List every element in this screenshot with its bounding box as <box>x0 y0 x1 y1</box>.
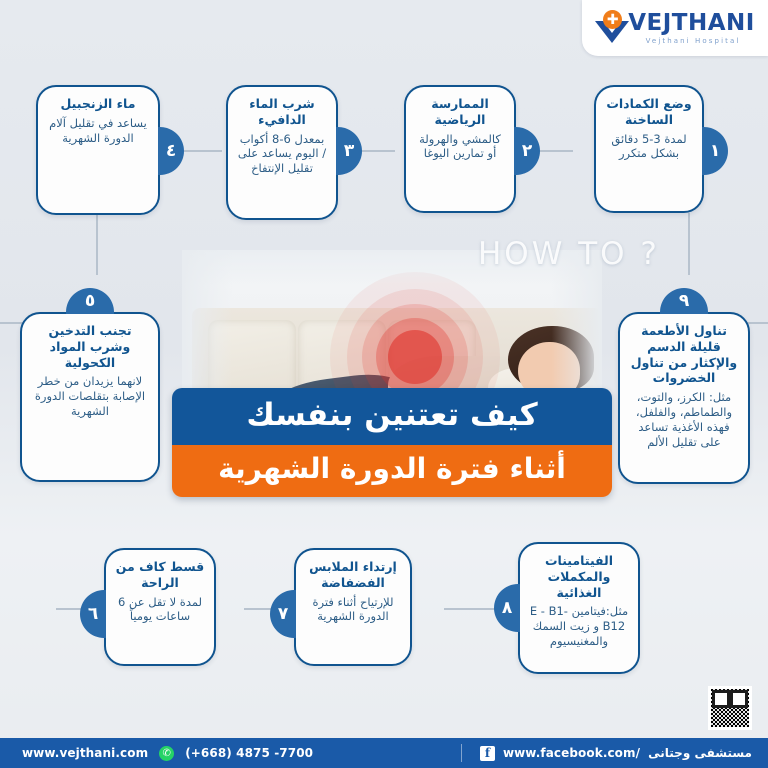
tip-title-3: شرب الماء الدافيء <box>236 96 328 128</box>
whatsapp-icon: ✆ <box>159 746 174 761</box>
tip-number-badge-3: ٣ <box>336 127 362 175</box>
brand-name: VEJTHANI <box>628 12 755 35</box>
tip-card-6[interactable]: ٦ قسط كاف من الراحة لمدة لا تقل عن 6 ساع… <box>104 548 216 666</box>
tip-body-3: بمعدل 6-8 أكواب / اليوم يساعد على تقليل … <box>236 132 328 177</box>
footer-bar: www.vejthani.com ✆ (+668) 4875 -7700 f w… <box>0 738 768 768</box>
brand-tagline: Vejthani Hospital <box>631 37 755 45</box>
tip-card-8[interactable]: ٨ الفيتامينات والمكملات الغذائية مثل:فيت… <box>518 542 640 674</box>
phone-number: (+668) 4875 -7700 <box>185 746 313 760</box>
tip-title-6: قسط كاف من الراحة <box>114 559 206 591</box>
tip-number-badge-4: ٤ <box>158 127 184 175</box>
tip-number-badge-9: ٩ <box>660 288 708 314</box>
tip-card-4[interactable]: ٤ ماء الزنجبيل يساعد في تقليل آلام الدور… <box>36 85 160 215</box>
facebook-arabic-handle: مستشفى وجتانى <box>648 746 752 760</box>
tip-body-1: لمدة 3-5 دقائق بشكل متكرر <box>604 132 694 162</box>
tip-number-badge-5: ٥ <box>66 288 114 314</box>
website-link[interactable]: www.vejthani.com <box>22 746 148 760</box>
facebook-icon: f <box>480 746 495 761</box>
brand-logo: ✚ VEJTHANI Vejthani Hospital <box>582 0 768 56</box>
headline-line-2: أثناء فترة الدورة الشهرية <box>172 445 612 496</box>
tip-number-badge-1: ١ <box>702 127 728 175</box>
vejthani-v-mark-icon: ✚ <box>595 11 629 45</box>
cross-glyph: ✚ <box>607 13 619 27</box>
headline-line-1: كيف تعتنين بنفسك <box>172 388 612 445</box>
tip-card-9[interactable]: ٩ تناول الأطعمة قليلة الدسم والإكثار من … <box>618 312 750 484</box>
footer-divider <box>461 744 462 762</box>
tip-body-2: كالمشي والهرولة أو تمارين اليوغا <box>414 132 506 162</box>
tip-title-8: الفيتامينات والمكملات الغذائية <box>528 553 630 600</box>
tip-body-9: مثل: الكرز، والتوت، والطماطم، والفلفل، ف… <box>628 390 740 450</box>
tip-number-badge-6: ٦ <box>80 590 106 638</box>
tip-number-badge-8: ٨ <box>494 584 520 632</box>
tip-body-6: لمدة لا تقل عن 6 ساعات يومياً <box>114 595 206 625</box>
tip-title-4: ماء الزنجبيل <box>46 96 150 112</box>
tip-card-3[interactable]: ٣ شرب الماء الدافيء بمعدل 6-8 أكواب / ال… <box>226 85 338 220</box>
tip-body-7: للإرتياح أثناء فترة الدورة الشهرية <box>304 595 402 625</box>
tip-title-2: الممارسة الرياضية <box>414 96 506 128</box>
tip-title-1: وضع الكمادات الساخنة <box>604 96 694 128</box>
tip-title-5: تجنب التدخين وشرب المواد الكحولية <box>30 323 150 370</box>
infographic-poster: ✚ VEJTHANI Vejthani Hospital <box>0 0 768 768</box>
connector-line <box>96 213 98 275</box>
tip-card-7[interactable]: ٧ إرتداء الملابس الفضفاضة للإرتياح أثناء… <box>294 548 412 666</box>
tip-body-8: مثل:فيتامين E - B1-B12 و زيت السمك والمغ… <box>528 604 630 649</box>
tip-number-badge-7: ٧ <box>270 590 296 638</box>
tip-number-badge-2: ٢ <box>514 127 540 175</box>
tip-card-1[interactable]: ١ وضع الكمادات الساخنة لمدة 3-5 دقائق بش… <box>594 85 704 213</box>
qr-code[interactable] <box>708 686 752 730</box>
facebook-link[interactable]: www.facebook.com/ <box>503 746 640 760</box>
tip-card-2[interactable]: ٢ الممارسة الرياضية كالمشي والهرولة أو ت… <box>404 85 516 213</box>
tip-body-5: لانهما يزيدان من خطر الإصابة بتقلصات الد… <box>30 374 150 419</box>
tip-card-5[interactable]: ٥ تجنب التدخين وشرب المواد الكحولية لانه… <box>20 312 160 482</box>
headline-banner: كيف تعتنين بنفسك أثناء فترة الدورة الشهر… <box>172 388 612 497</box>
tip-title-9: تناول الأطعمة قليلة الدسم والإكثار من تن… <box>628 323 740 386</box>
how-to-watermark: HOW TO ? <box>478 236 660 272</box>
tip-title-7: إرتداء الملابس الفضفاضة <box>304 559 402 591</box>
tip-body-4: يساعد في تقليل آلام الدورة الشهرية <box>46 116 150 146</box>
connector-line <box>688 213 690 275</box>
